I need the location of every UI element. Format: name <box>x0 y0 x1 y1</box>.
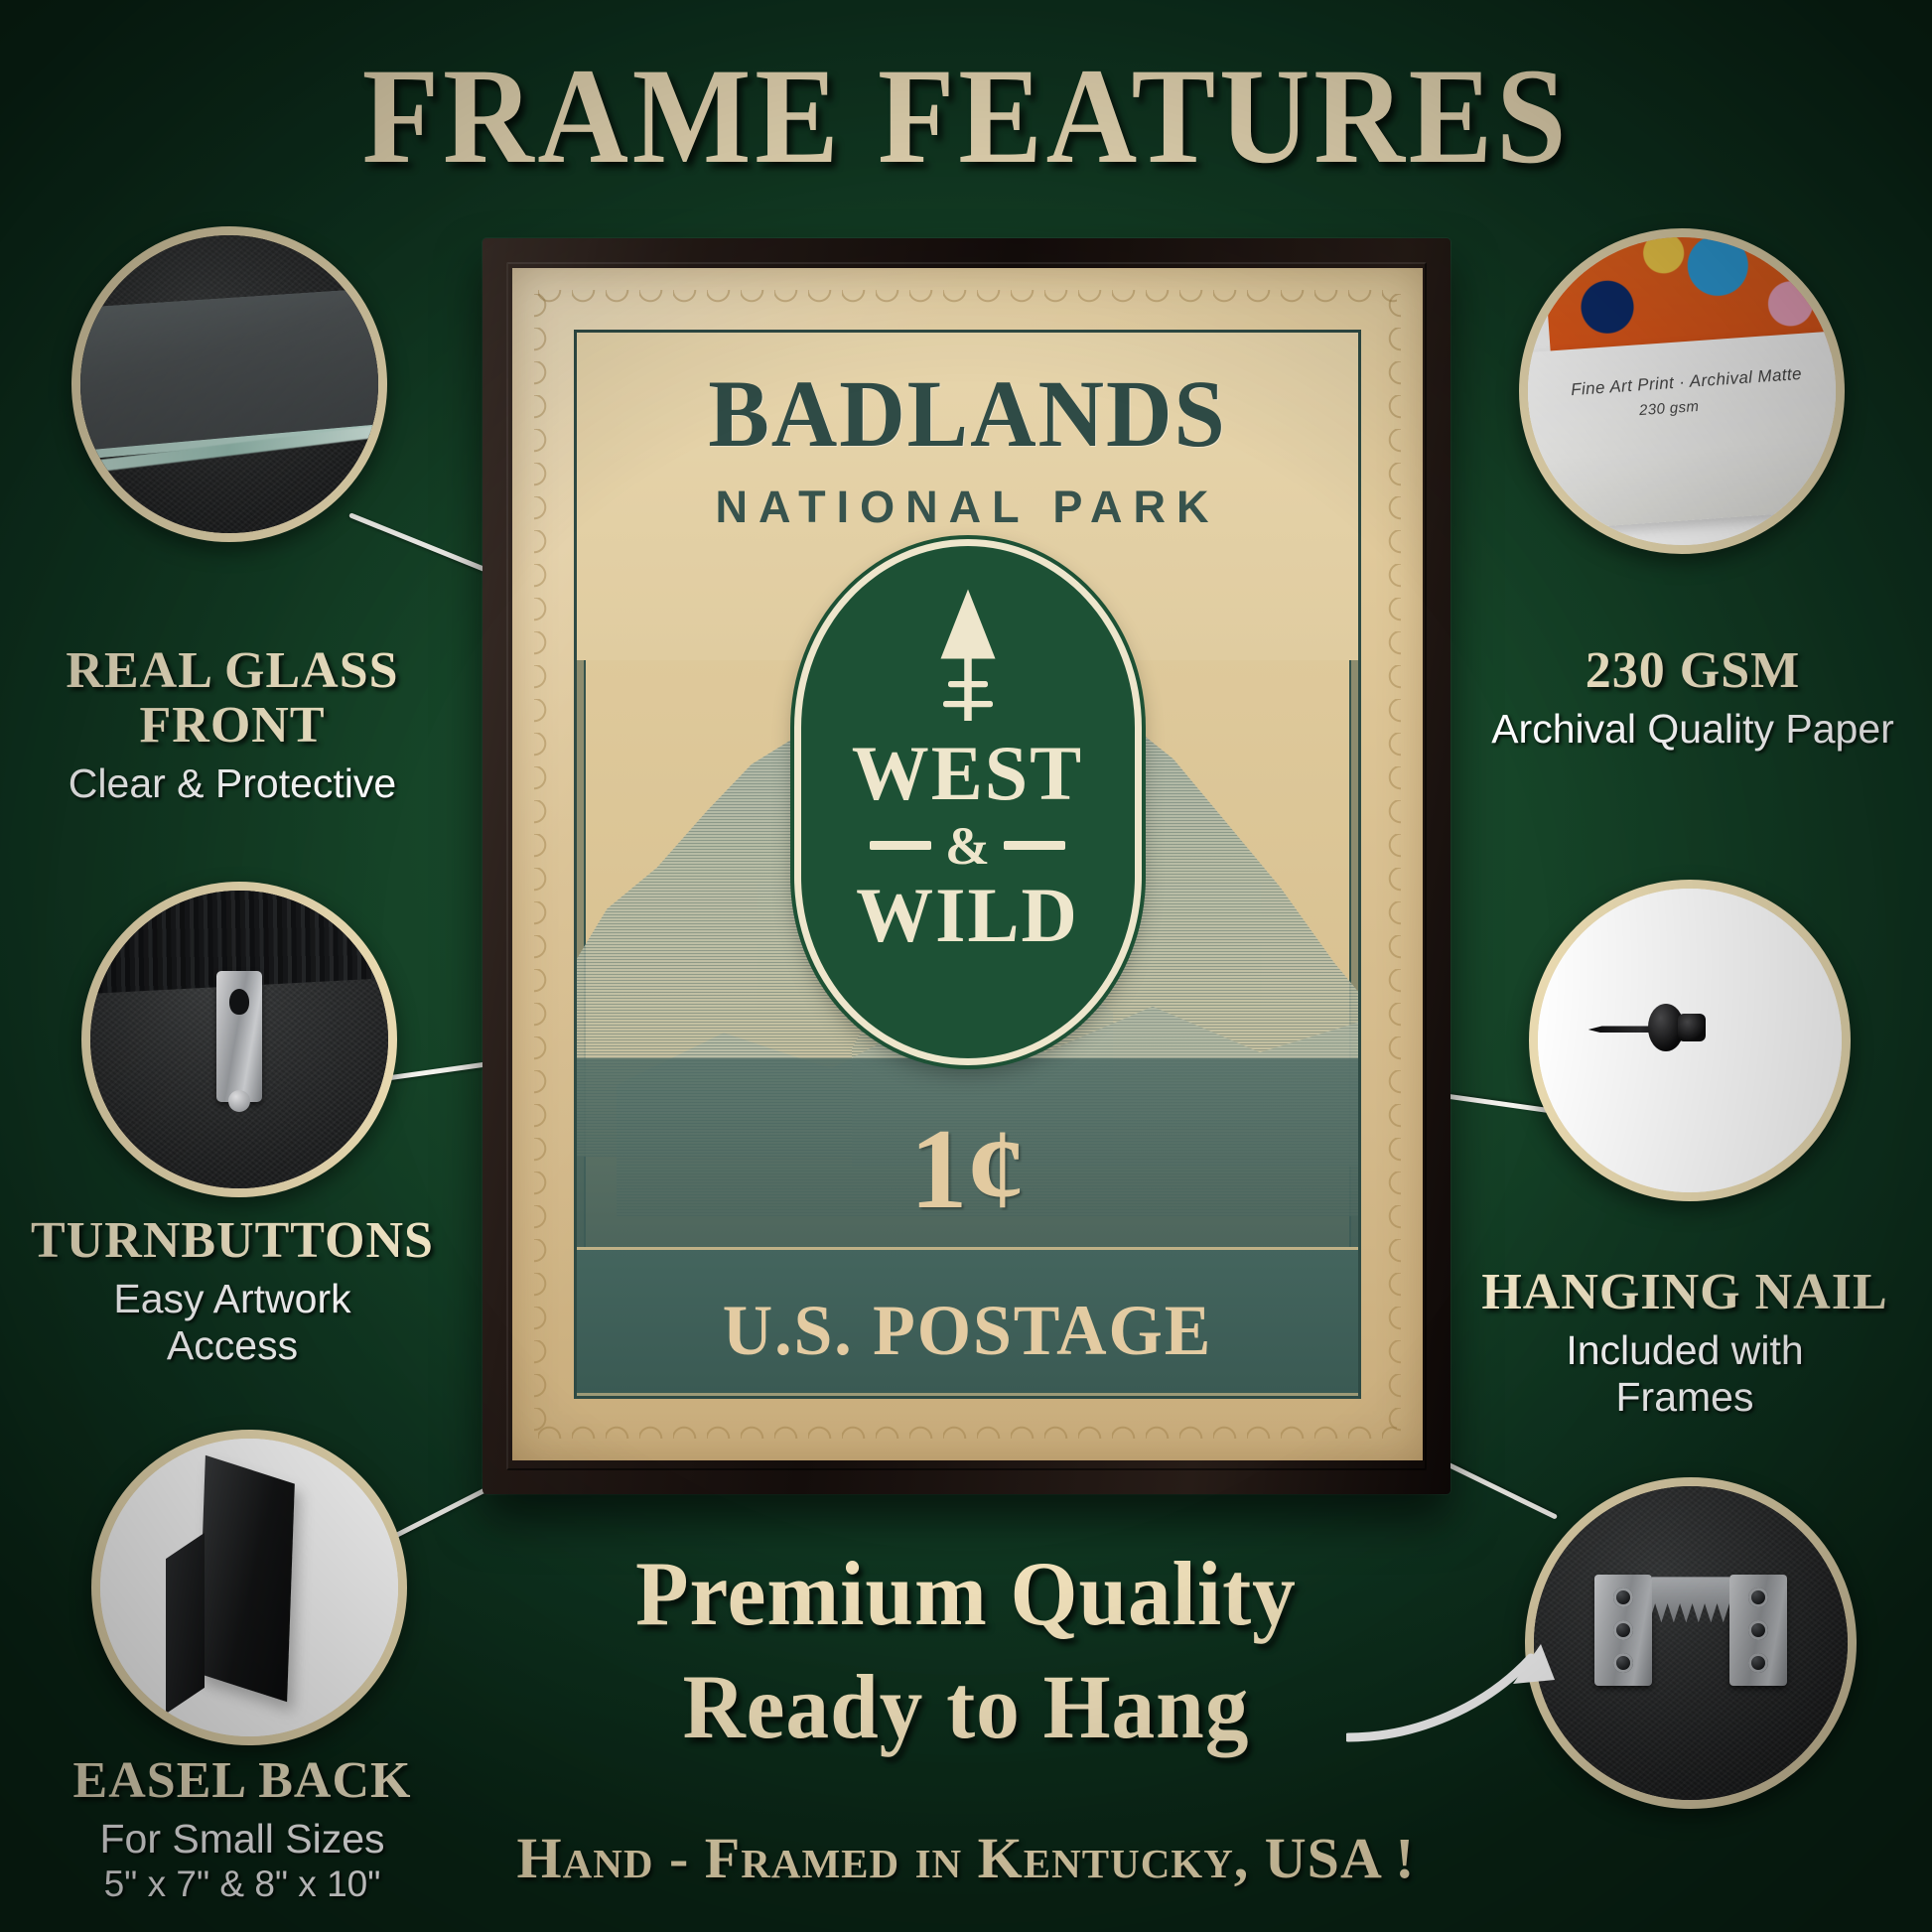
tagline: Premium Quality Ready to Hang <box>49 1537 1884 1763</box>
feature-image-hanging-nail[interactable] <box>1529 880 1851 1201</box>
feature-image-real-glass-front[interactable] <box>71 226 387 542</box>
feature-subtitle-real-glass-front: Clear & Protective <box>24 760 441 807</box>
poster-artwork: BADLANDS NATIONAL PARK 1¢ U.S. POSTAGE W… <box>512 268 1423 1460</box>
page-title: FRAME FEATURES <box>77 48 1855 185</box>
feature-label-230-gsm: 230 GSM Archival Quality Paper <box>1469 643 1916 753</box>
postage-value: 1¢ <box>577 1112 1358 1227</box>
west-and-wild-badge: WEST & WILD <box>794 539 1142 1065</box>
tagline-line-2: Ready to Hang <box>49 1650 1884 1763</box>
badge-ampersand-row: & <box>870 815 1065 877</box>
stamp-edge-bottom <box>538 1419 1397 1439</box>
feature-label-hanging-nail: HANGING NAIL Included with Frames <box>1451 1265 1918 1421</box>
stamp-edge-left <box>534 294 554 1435</box>
poster-subtitle: NATIONAL PARK <box>577 482 1358 533</box>
feature-subtitle-turnbuttons: Easy Artwork Access <box>14 1276 451 1369</box>
feature-image-230-gsm[interactable]: Fine Art Print · Archival Matte 230 gsm <box>1519 228 1845 554</box>
turnbutton-icon <box>90 891 388 1188</box>
infographic-canvas: FRAME FEATURES BADLANDS <box>0 0 1932 1932</box>
made-in-label: Hand - Framed in Kentucky, USA ! <box>0 1825 1932 1891</box>
feature-title-230-gsm: 230 GSM <box>1469 643 1916 698</box>
framed-poster[interactable]: BADLANDS NATIONAL PARK 1¢ U.S. POSTAGE W… <box>483 238 1450 1494</box>
feature-title-turnbuttons: TURNBUTTONS <box>14 1213 451 1268</box>
stamp-edge-top <box>538 290 1397 310</box>
feature-title-real-glass-front: REAL GLASS FRONT <box>24 643 441 753</box>
badge-rule-left <box>870 841 931 850</box>
feature-subtitle-hanging-nail: Included with Frames <box>1451 1327 1918 1421</box>
feature-image-turnbuttons[interactable] <box>81 882 397 1197</box>
badge-rule-right <box>1004 841 1065 850</box>
badge-line-1: WEST <box>852 737 1083 811</box>
pine-tree-icon <box>903 582 1033 731</box>
paper-stack-icon: Fine Art Print · Archival Matte 230 gsm <box>1528 237 1836 545</box>
feature-subtitle-230-gsm: Archival Quality Paper <box>1469 706 1916 753</box>
badge-ampersand: & <box>945 815 990 877</box>
feature-label-turnbuttons: TURNBUTTONS Easy Artwork Access <box>14 1213 451 1369</box>
feature-label-real-glass-front: REAL GLASS FRONT Clear & Protective <box>24 643 441 807</box>
postage-label: U.S. POSTAGE <box>589 1295 1346 1366</box>
badge-line-2: WILD <box>856 879 1079 953</box>
nail-icon <box>1538 889 1842 1192</box>
poster-title: BADLANDS <box>593 366 1343 462</box>
feature-title-hanging-nail: HANGING NAIL <box>1451 1265 1918 1319</box>
tagline-line-1: Premium Quality <box>49 1537 1884 1650</box>
stamp-edge-right <box>1381 294 1401 1435</box>
stamp-inner: BADLANDS NATIONAL PARK 1¢ U.S. POSTAGE W… <box>574 330 1361 1399</box>
glass-pane-icon <box>80 235 378 533</box>
